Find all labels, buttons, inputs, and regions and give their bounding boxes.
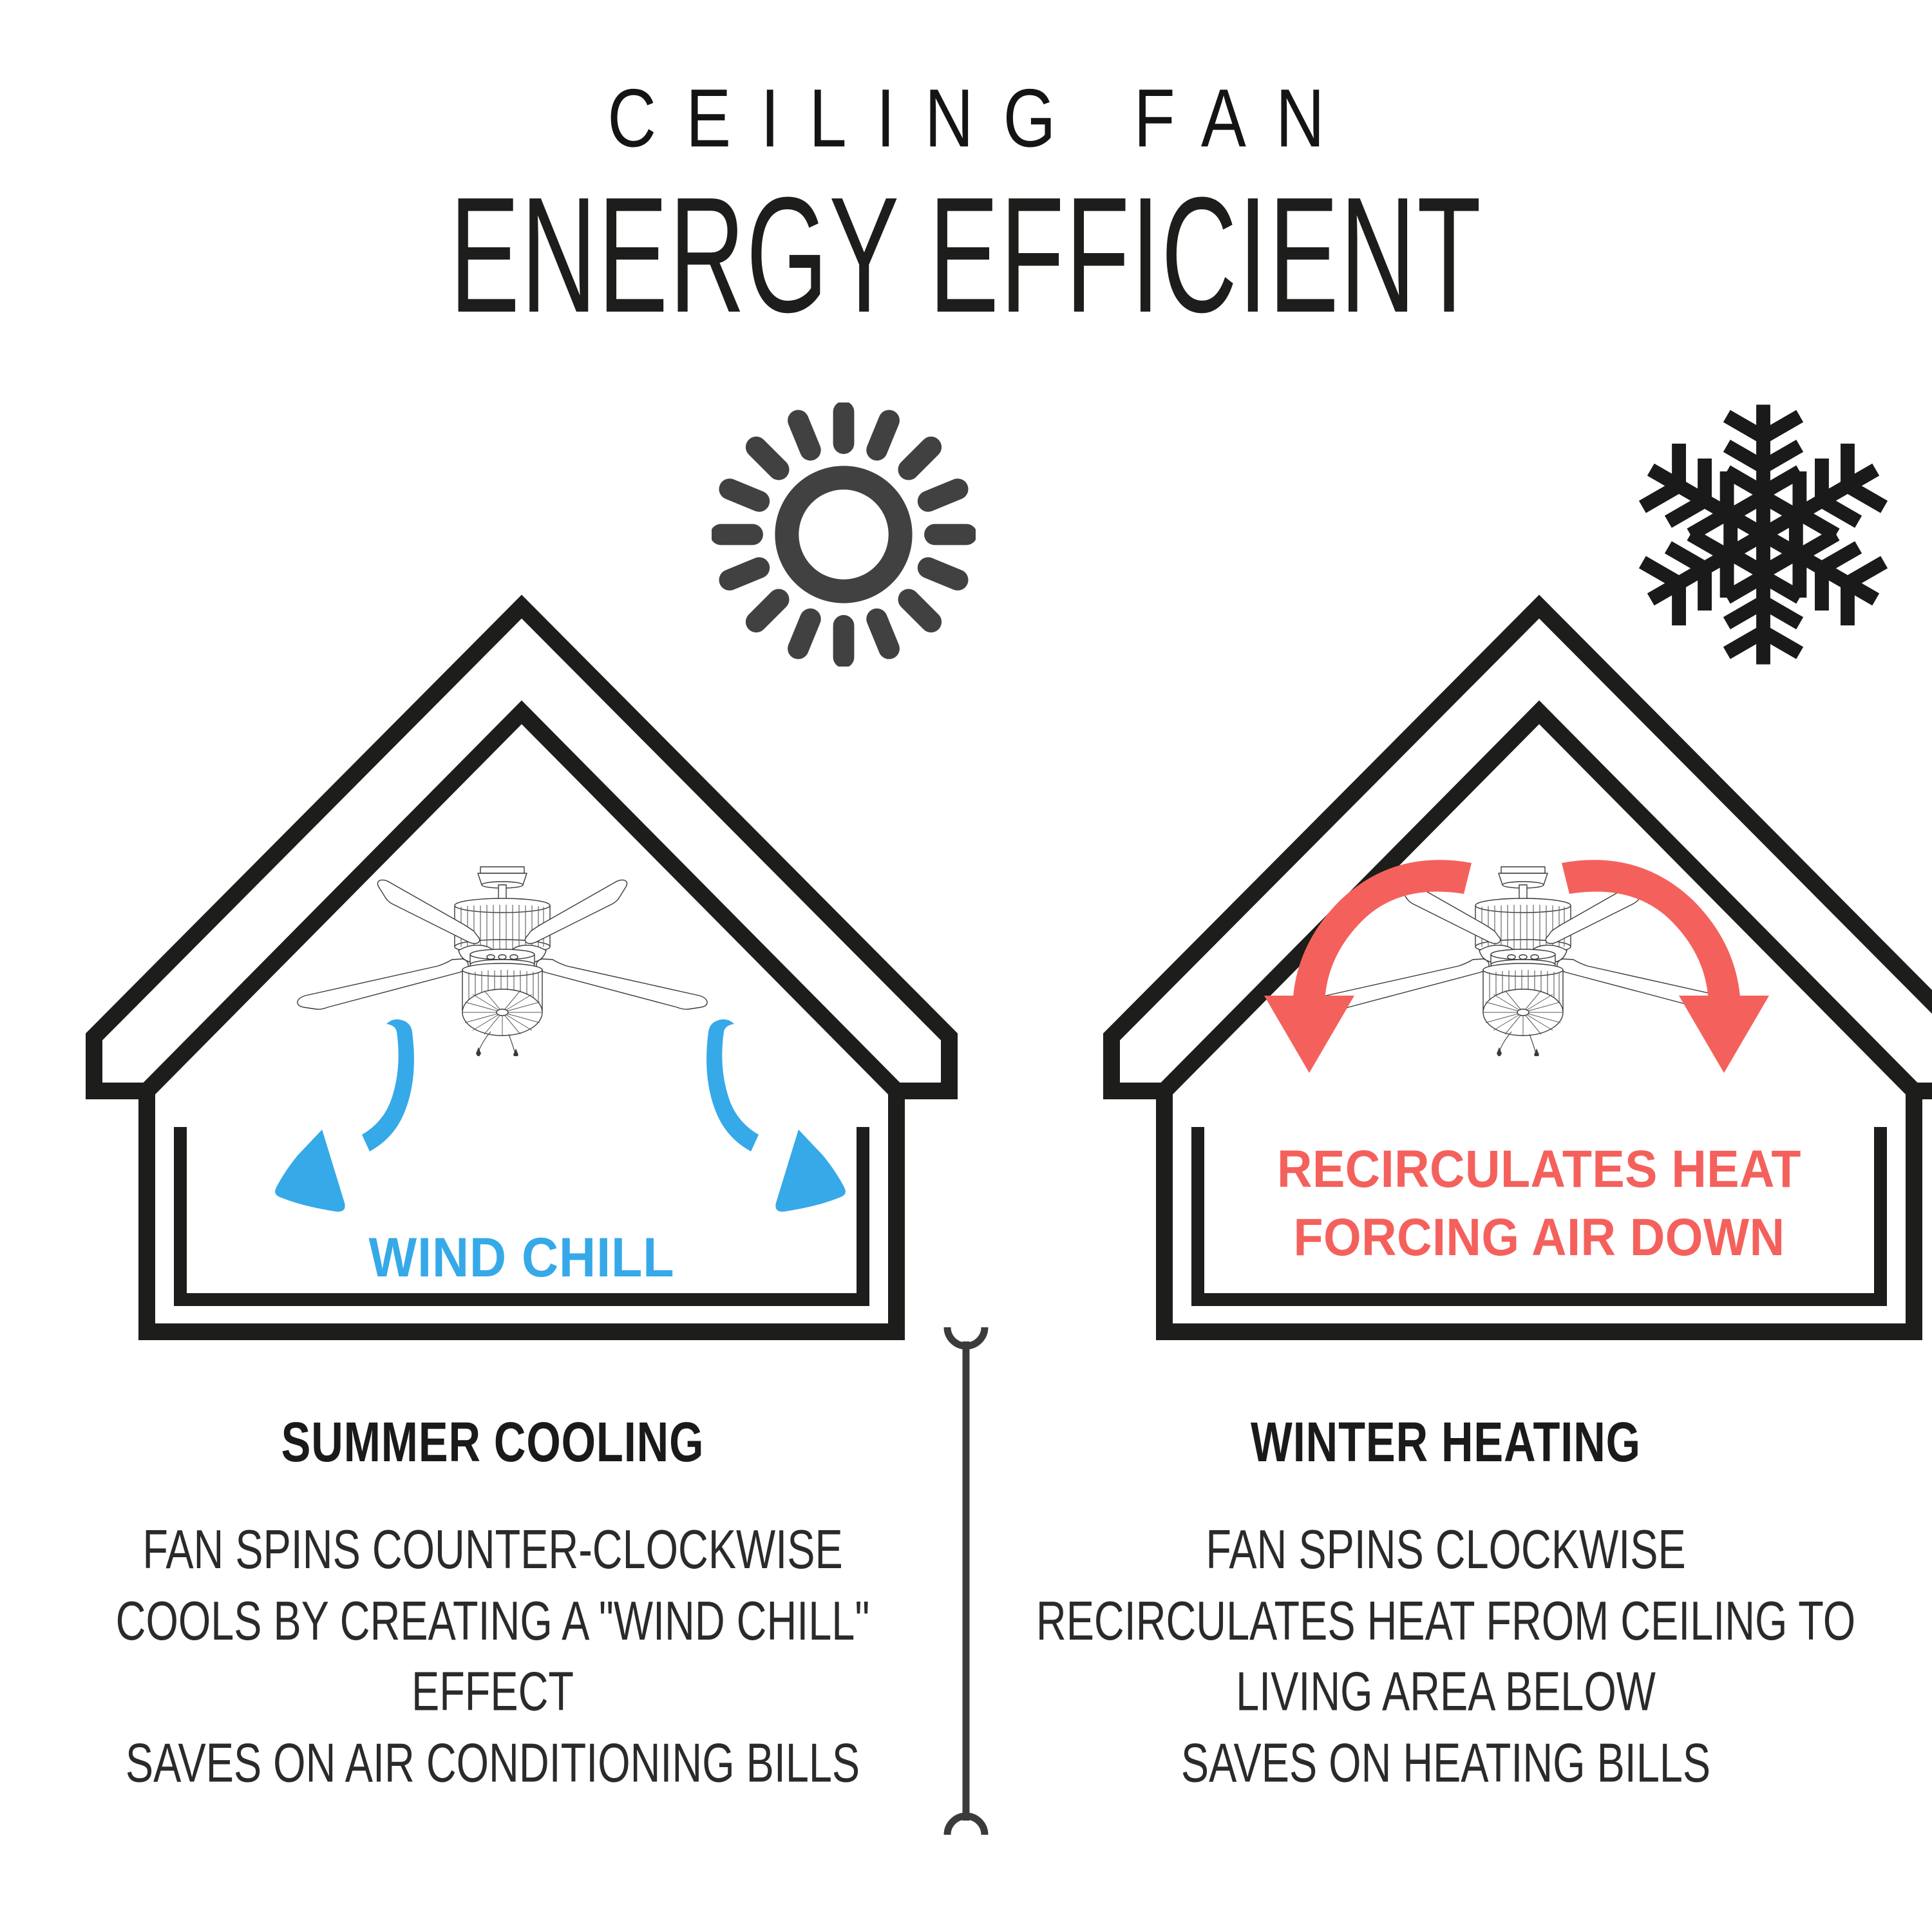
arrow-down-left	[261, 1019, 413, 1229]
caption-wind-chill-line1: WIND CHILL	[368, 1227, 674, 1289]
body-line: COOLS BY CREATING A "WIND CHILL"	[73, 1586, 913, 1657]
body-summer-cooling: FAN SPINS COUNTER-CLOCKWISE COOLS BY CRE…	[73, 1515, 913, 1799]
caption-wind-chill: WIND CHILL	[107, 1227, 936, 1289]
heading-summer-cooling: SUMMER COOLING	[82, 1414, 904, 1470]
arrow-down-right	[706, 1019, 859, 1229]
body-line: FAN SPINS CLOCKWISE	[1026, 1515, 1866, 1586]
infographic-canvas: CEILING FAN ENERGY EFFICIENT	[0, 0, 1932, 1932]
page-kicker: CEILING FAN	[0, 77, 1932, 160]
body-winter-heating: FAN SPINS CLOCKWISE RECIRCULATES HEAT FR…	[1026, 1515, 1866, 1799]
caption-heat-line2: FORCING AIR DOWN	[1124, 1208, 1932, 1267]
caption-heat-line1: RECIRCULATES HEAT	[1277, 1140, 1801, 1198]
body-line: FAN SPINS COUNTER-CLOCKWISE	[73, 1515, 913, 1586]
heading-winter-heating: WINTER HEATING	[1035, 1414, 1857, 1470]
arrow-over-left	[1264, 860, 1472, 1073]
body-line: EFFECT	[73, 1657, 913, 1728]
arrow-over-right	[1562, 860, 1769, 1073]
body-line: SAVES ON HEATING BILLS	[1026, 1728, 1866, 1799]
body-line: LIVING AREA BELOW	[1026, 1657, 1866, 1728]
column-winter: WINTER HEATING FAN SPINS CLOCKWISE RECIR…	[979, 1417, 1913, 1777]
body-line: SAVES ON AIR CONDITIONING BILLS	[73, 1728, 913, 1799]
column-summer: SUMMER COOLING FAN SPINS COUNTER-CLOCKWI…	[26, 1417, 960, 1777]
body-line: RECIRCULATES HEAT FROM CEILING TO	[1026, 1586, 1866, 1657]
page-title: ENERGY EFFICIENT	[29, 173, 1903, 337]
caption-recirculates-heat: RECIRCULATES HEAT FORCING AIR DOWN	[1124, 1140, 1932, 1267]
